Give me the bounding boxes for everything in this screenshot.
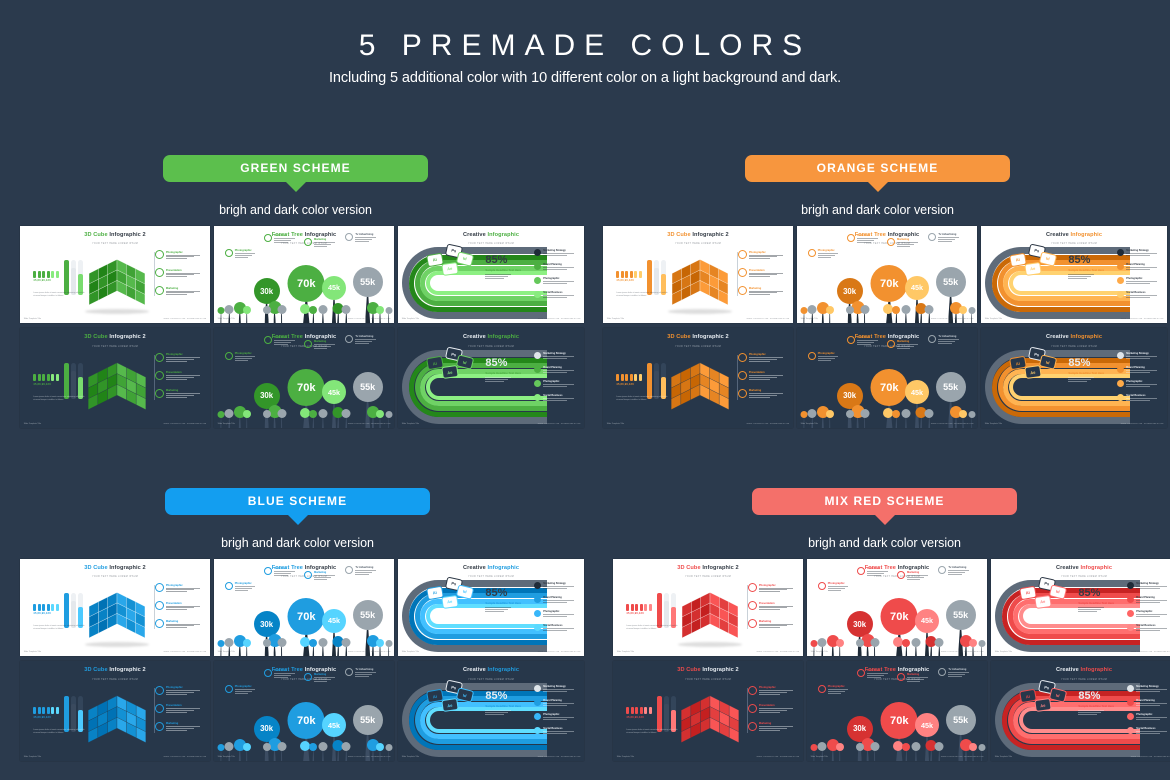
tree-small <box>902 681 910 761</box>
slide-thumbnail-forest[interactable]: Forest Tree InfographicYOUR TEXT HERE LO… <box>797 226 977 323</box>
tag-label: Photographic <box>235 582 257 585</box>
tag-tv-icon <box>928 233 936 241</box>
text-line <box>948 570 969 571</box>
legend-item[interactable]: Marketing Strategy <box>534 249 579 256</box>
text-line <box>828 588 845 589</box>
forest-tag[interactable]: Download <box>857 669 889 678</box>
tag-download-icon <box>847 336 855 344</box>
callout-list: PhotographicPresentationMarketing <box>748 583 797 637</box>
tree-trunk <box>246 312 248 323</box>
text-line <box>166 694 187 695</box>
legend-item[interactable]: Brand Planning <box>534 366 579 373</box>
legend-item[interactable]: Photographic <box>534 713 579 720</box>
scheme-badge-red[interactable]: MIX RED SCHEME <box>752 488 1017 515</box>
bar-fill <box>71 268 76 295</box>
legend-item[interactable]: Brand Planning <box>1127 699 1170 706</box>
legend-item[interactable]: Social Business <box>1127 727 1170 734</box>
tag-clock-icon <box>887 340 895 348</box>
forest-tag[interactable]: Photographic <box>225 352 257 361</box>
callout-item[interactable]: Presentation <box>738 371 787 380</box>
app-card-ae[interactable]: Ae <box>1024 365 1041 379</box>
tag-label: Photographic <box>818 352 840 355</box>
legend-item[interactable]: Social Business <box>534 727 579 734</box>
forest-tag[interactable]: Download <box>847 234 879 243</box>
text-line <box>818 356 839 357</box>
legend-label: Brand Planning <box>543 699 578 702</box>
slide-thumbnail-creative[interactable]: Creative InfographicYOUR TEXT HERE LOREM… <box>398 559 584 656</box>
slide-thumbnail-forest[interactable]: Forest Tree InfographicYOUR TEXT HERE LO… <box>807 661 987 761</box>
legend-item[interactable]: Photographic <box>1117 380 1162 387</box>
legend-label: Social Business <box>543 291 578 294</box>
slide-title: Creative Infographic <box>991 565 1170 571</box>
text-line <box>485 712 507 713</box>
bar-track <box>64 363 69 399</box>
forest-tag[interactable]: Marketing <box>304 673 336 682</box>
tree-crown <box>846 306 854 314</box>
slide-thumbnail-forest[interactable]: Forest Tree InfographicYOUR TEXT HERE LO… <box>214 328 394 428</box>
tree-crown <box>902 743 910 751</box>
callout-item[interactable]: Presentation <box>155 601 204 610</box>
tag-label: Tv Advertising <box>938 233 960 236</box>
tree-small <box>277 681 286 761</box>
forest-tag[interactable]: Tv Advertising <box>345 566 377 575</box>
legend-bullet <box>1117 249 1124 256</box>
app-card-ae[interactable]: Ae <box>441 262 458 276</box>
tag-label: Download <box>274 669 296 672</box>
stat-label: 45,60,90,120 <box>616 279 643 282</box>
callout-label: Presentation <box>166 269 204 272</box>
slide-thumbnail-creative[interactable]: Creative InfographicYOUR TEXT HERE LOREM… <box>398 226 584 323</box>
stat-dot <box>56 374 59 381</box>
app-card-id[interactable]: Id <box>1049 584 1067 599</box>
legend-item[interactable]: Photographic <box>1127 610 1170 617</box>
forest-tag[interactable]: Marketing <box>897 571 929 580</box>
tree-crown <box>385 744 392 751</box>
legend-item[interactable]: Social Business <box>1117 291 1162 298</box>
forest-tag[interactable]: Tv Advertising <box>345 335 377 344</box>
slide-footer-right: WWW.YOURSITE.COM . SLIDEMODELS.COM <box>164 423 207 425</box>
slide-footer-right: WWW.YOURSITE.COM . SLIDEMODELS.COM <box>164 756 207 758</box>
legend-item[interactable]: Brand Planning <box>534 699 579 706</box>
app-card-id[interactable]: Id <box>456 584 474 599</box>
legend-label: Social Business <box>543 727 578 730</box>
tag-label: Tv Advertising <box>948 668 970 671</box>
callout-item[interactable]: Presentation <box>155 704 204 713</box>
app-card-ae[interactable]: Ae <box>441 595 458 609</box>
legend-item[interactable]: Marketing Strategy <box>1117 352 1162 359</box>
forest-tag[interactable]: Tv Advertising <box>928 335 960 344</box>
text-line <box>759 607 787 608</box>
tree-crown <box>911 742 920 751</box>
text-line <box>1126 269 1150 270</box>
legend-item[interactable]: Brand Planning <box>1117 366 1162 373</box>
forest-tag[interactable]: Tv Advertising <box>938 668 970 677</box>
text-line <box>274 677 287 678</box>
forest-tag[interactable]: Download <box>264 669 296 678</box>
text-line <box>749 258 770 259</box>
slide-title: 3D Cube Infographic 2 <box>20 232 210 238</box>
tree-crown <box>385 640 392 647</box>
bar-fill <box>64 260 69 295</box>
stat-dot <box>33 604 36 611</box>
slide-thumbnail-forest[interactable]: Forest Tree InfographicYOUR TEXT HERE LO… <box>797 328 977 428</box>
legend-bullet <box>534 582 541 589</box>
app-card-id[interactable]: Id <box>456 251 474 266</box>
text-line <box>749 274 777 275</box>
tree-small <box>856 578 864 656</box>
callout-label: Marketing <box>749 389 787 392</box>
app-card-ae[interactable]: Ae <box>441 698 458 712</box>
callout-item[interactable]: Marketing <box>155 389 204 398</box>
legend-label: Social Business <box>1126 394 1161 397</box>
stat-dots-group: 45,60,90,120 <box>33 604 60 616</box>
tree-small <box>309 348 317 428</box>
tree-small <box>925 348 934 428</box>
slide-footer-left: Slide Template Title <box>402 423 419 425</box>
app-card-id[interactable]: Id <box>456 687 474 703</box>
stat-dot <box>51 707 54 714</box>
text-line <box>857 342 874 343</box>
tree-crown <box>318 305 327 314</box>
slide-thumbnail-forest[interactable]: Forest Tree InfographicYOUR TEXT HERE LO… <box>214 226 394 323</box>
connector-line <box>715 355 738 400</box>
legend-item[interactable]: Brand Planning <box>1127 596 1170 603</box>
legend-bullet <box>534 610 541 617</box>
callout-item[interactable]: Marketing <box>748 722 797 731</box>
slide-thumbnail-cube[interactable]: 3D Cube Infographic 2YOUR TEXT HERE LORE… <box>603 328 793 428</box>
callout-item[interactable]: Presentation <box>155 371 204 380</box>
text-line <box>938 237 959 238</box>
tree-small <box>978 578 985 656</box>
legend-item[interactable]: Marketing Strategy <box>534 582 579 589</box>
legend-label: Brand Planning <box>1136 699 1170 702</box>
text-line <box>759 589 787 590</box>
forest-tag[interactable]: Download <box>264 567 296 576</box>
slide-title-part2: Infographic <box>487 565 519 571</box>
legend-item[interactable]: Brand Planning <box>534 596 579 603</box>
slide-footer-left: Slide Template Title <box>617 651 634 653</box>
text-line <box>543 356 574 357</box>
forest-tag[interactable]: Tv Advertising <box>928 233 960 242</box>
forest-tag[interactable]: Photographic <box>225 582 257 591</box>
forest-tag[interactable]: Tv Advertising <box>938 566 970 575</box>
text-line <box>314 348 327 349</box>
text-line <box>818 360 831 361</box>
legend-label: Brand Planning <box>1136 596 1170 599</box>
slide-thumbnail-cube[interactable]: 3D Cube Infographic 2YOUR TEXT HERE LORE… <box>20 226 210 323</box>
legend-item[interactable]: Social Business <box>534 624 579 631</box>
stat-dot <box>42 374 45 381</box>
percent-block: 85%Sample Headline Text Here <box>1068 358 1104 382</box>
tree-trunk <box>281 417 283 428</box>
slide-title-part1: 3D Cube <box>677 565 702 571</box>
stat-label: 45,60,90,120 <box>616 383 643 386</box>
tree-small <box>385 681 392 761</box>
callout-item[interactable]: Photographic <box>155 686 204 695</box>
forest-tag[interactable]: Download <box>264 336 296 345</box>
legend-item[interactable]: Photographic <box>1117 277 1162 284</box>
tree-crown <box>860 305 869 314</box>
text-line <box>235 588 252 589</box>
legend-item[interactable]: Brand Planning <box>1117 263 1162 270</box>
text-line <box>1136 586 1167 587</box>
legend-item[interactable]: Marketing Strategy <box>1127 685 1170 692</box>
slide-thumbnail-creative[interactable]: Creative InfographicYOUR TEXT HERE LOREM… <box>398 661 584 761</box>
app-card-ae[interactable]: Ae <box>441 365 458 379</box>
tree-crown <box>836 743 844 751</box>
tag-label: Download <box>867 669 889 672</box>
tree-crown <box>243 410 251 418</box>
slide-thumbnail-creative[interactable]: Creative InfographicYOUR TEXT HERE LOREM… <box>991 559 1170 656</box>
callout-item[interactable]: Presentation <box>155 268 204 277</box>
forest-tag[interactable]: Download <box>847 336 879 345</box>
stat-dot <box>38 374 41 381</box>
legend-item[interactable]: Brand Planning <box>534 263 579 270</box>
forest-tag[interactable]: Download <box>857 567 889 576</box>
slide-thumbnail-cube[interactable]: 3D Cube Infographic 2YOUR TEXT HERE LORE… <box>613 661 803 761</box>
tree-crown <box>801 307 808 314</box>
forest-tag[interactable]: Download <box>264 234 296 243</box>
callout-item[interactable]: Marketing <box>748 619 797 628</box>
percent-value: 85% <box>485 255 521 266</box>
bar-fill <box>64 363 69 399</box>
callout-chart-icon <box>738 286 747 295</box>
slide-footer-left: Slide Template Title <box>811 756 828 758</box>
forest-tag[interactable]: Tv Advertising <box>345 668 377 677</box>
bar-fill <box>64 593 69 628</box>
text-line <box>355 241 368 242</box>
callout-item[interactable]: Photographic <box>155 583 204 592</box>
slide-title-part2: Infographic <box>487 334 519 340</box>
callout-camera-icon <box>155 353 164 362</box>
callout-item[interactable]: Marketing <box>738 286 787 295</box>
slide-thumbnail-forest[interactable]: Forest Tree InfographicYOUR TEXT HERE LO… <box>214 559 394 656</box>
text-line <box>749 395 777 396</box>
slide-footer-left: Slide Template Title <box>801 423 818 425</box>
slide-title: 3D Cube Infographic 2 <box>20 565 210 571</box>
text-line <box>543 384 574 385</box>
tree-small <box>218 245 225 323</box>
stat-dot <box>616 271 619 278</box>
app-card-ae[interactable]: Ae <box>1034 698 1051 712</box>
stat-dot <box>42 604 45 611</box>
callout-item[interactable]: Photographic <box>155 353 204 362</box>
forest-tag[interactable]: Photographic <box>818 685 850 694</box>
stat-dot <box>621 271 624 278</box>
callout-item[interactable]: Marketing <box>155 722 204 731</box>
callout-camera-icon <box>155 583 164 592</box>
tree-trunk <box>832 645 834 656</box>
forest-tag[interactable]: Photographic <box>808 352 840 361</box>
stat-dot <box>38 271 41 278</box>
tag-label: Tv Advertising <box>938 335 960 338</box>
tree-small <box>385 348 392 428</box>
cube-shadow <box>85 309 150 314</box>
tag-label: Download <box>274 567 296 570</box>
badge-tail <box>867 181 889 192</box>
callout-camera-icon <box>748 583 757 592</box>
callout-item[interactable]: Photographic <box>738 353 787 362</box>
stat-dots-group: 45,60,90,120 <box>616 374 643 386</box>
forest-tag[interactable]: Photographic <box>225 249 257 258</box>
legend-item[interactable]: Marketing Strategy <box>1127 582 1170 589</box>
app-card-id[interactable]: Id <box>456 354 474 370</box>
scheme-badge-green[interactable]: GREEN SCHEME <box>163 155 428 182</box>
bar-track <box>664 593 669 628</box>
callout-item[interactable]: Marketing <box>155 286 204 295</box>
stat-dot <box>634 374 637 381</box>
text-line <box>1126 295 1157 296</box>
forest-tag[interactable]: Tv Advertising <box>345 233 377 242</box>
callout-label: Presentation <box>166 602 204 605</box>
text-line <box>543 283 567 284</box>
tree-small <box>856 681 864 761</box>
stat-dots-group: 45,60,90,120 <box>33 707 60 719</box>
slide-thumbnail-forest[interactable]: Forest Tree InfographicYOUR TEXT HERE LO… <box>214 661 394 761</box>
scheme-subtitle: brigh and dark color version <box>745 203 1010 217</box>
callout-item[interactable]: Presentation <box>738 268 787 277</box>
tree-crown <box>243 639 251 647</box>
callout-monitor-icon <box>748 601 757 610</box>
tree-trunk <box>859 750 861 761</box>
slide-thumbnail-cube[interactable]: 3D Cube Infographic 2YOUR TEXT HERE LORE… <box>20 328 210 428</box>
text-line <box>166 690 201 691</box>
slide-thumbnail-creative[interactable]: Creative InfographicYOUR TEXT HERE LOREM… <box>398 328 584 428</box>
app-card-id[interactable]: Id <box>1039 354 1057 370</box>
text-line <box>235 257 248 258</box>
slide-footer-right: WWW.YOURSITE.COM . SLIDEMODELS.COM <box>747 318 790 320</box>
legend-item[interactable]: Photographic <box>1127 713 1170 720</box>
text-line <box>166 606 201 607</box>
callout-item[interactable]: Marketing <box>155 619 204 628</box>
tree-crown <box>925 305 934 314</box>
text-line <box>1068 377 1094 378</box>
legend-bullet <box>1127 727 1134 734</box>
text-line <box>759 728 787 729</box>
callout-item[interactable]: Presentation <box>748 704 797 713</box>
legend-item[interactable]: Photographic <box>534 380 579 387</box>
legend-item[interactable]: Social Business <box>1117 394 1162 401</box>
legend-label: Brand Planning <box>1126 366 1161 369</box>
percent-value: 85% <box>1068 358 1104 369</box>
tag-camera-icon <box>818 685 826 693</box>
forest-tag[interactable]: Marketing <box>304 571 336 580</box>
stat-dot <box>640 604 643 611</box>
app-card-ae[interactable]: Ae <box>1034 595 1051 609</box>
text-line <box>897 242 918 243</box>
legend-item[interactable]: Social Business <box>1127 624 1170 631</box>
tree-trunk <box>281 312 283 323</box>
callout-item[interactable]: Marketing <box>738 389 787 398</box>
legend-bullet <box>1117 291 1124 298</box>
callout-item[interactable]: Presentation <box>748 601 797 610</box>
legend-item[interactable]: Social Business <box>534 291 579 298</box>
app-card-id[interactable]: Id <box>1049 687 1067 703</box>
text-line <box>355 237 376 238</box>
slide-title-part2: Infographic 2 <box>702 667 738 673</box>
slide-thumbnail-cube[interactable]: 3D Cube Infographic 2YOUR TEXT HERE LORE… <box>20 661 210 761</box>
legend-item[interactable]: Social Business <box>534 394 579 401</box>
text-line <box>907 577 924 578</box>
text-line <box>857 344 870 345</box>
slide-thumbnail-forest[interactable]: Forest Tree InfographicYOUR TEXT HERE LO… <box>807 559 987 656</box>
stat-dot <box>639 271 642 278</box>
legend-item[interactable]: Photographic <box>534 610 579 617</box>
forest-tag[interactable]: Marketing <box>887 340 919 349</box>
slide-thumbnail-creative[interactable]: Creative InfographicYOUR TEXT HERE LOREM… <box>991 661 1170 761</box>
callout-item[interactable]: Photographic <box>748 686 797 695</box>
forest-tag[interactable]: Photographic <box>225 685 257 694</box>
scheme-badge-blue[interactable]: BLUE SCHEME <box>165 488 430 515</box>
legend-bullet <box>1117 366 1124 373</box>
callout-item[interactable]: Photographic <box>748 583 797 592</box>
legend-item[interactable]: Marketing Strategy <box>534 352 579 359</box>
text-line <box>749 375 784 376</box>
callout-item[interactable]: Photographic <box>738 250 787 259</box>
text-line <box>355 676 368 677</box>
legend-item[interactable]: Marketing Strategy <box>534 685 579 692</box>
tree-trunk <box>304 645 306 656</box>
tree-small <box>342 681 351 761</box>
stat-dot <box>47 707 50 714</box>
text-line <box>1068 276 1090 277</box>
text-line <box>314 346 331 347</box>
stat-label: 45,60,90,120 <box>626 716 653 719</box>
tree-crown <box>318 409 327 418</box>
tree-small <box>968 245 975 323</box>
text-line <box>274 242 287 243</box>
tree-small <box>892 245 900 323</box>
slide-thumbnail-cube[interactable]: 3D Cube Infographic 2YOUR TEXT HERE LORE… <box>20 559 210 656</box>
app-card-id[interactable]: Id <box>1039 251 1057 266</box>
stat-dot <box>33 271 36 278</box>
scheme-badge-orange[interactable]: ORANGE SCHEME <box>745 155 1010 182</box>
slide-thumbnail-cube[interactable]: 3D Cube Infographic 2YOUR TEXT HERE LORE… <box>603 226 793 323</box>
forest-tag[interactable]: Photographic <box>818 582 850 591</box>
app-card-ae[interactable]: Ae <box>1024 262 1041 276</box>
slide-thumbnail-cube[interactable]: 3D Cube Infographic 2YOUR TEXT HERE LORE… <box>613 559 803 656</box>
callout-item[interactable]: Photographic <box>155 250 204 259</box>
tree-trunk <box>905 312 907 323</box>
callout-list: PhotographicPresentationMarketing <box>738 250 787 304</box>
tree-trunk <box>874 750 876 761</box>
forest-tag[interactable]: Marketing <box>887 238 919 247</box>
app-cards: PsAiIdAe <box>1019 681 1075 717</box>
forest-tag[interactable]: Photographic <box>808 249 840 258</box>
forest-tag[interactable]: Marketing <box>304 238 336 247</box>
legend-item[interactable]: Marketing Strategy <box>1117 249 1162 256</box>
tag-download-icon <box>264 336 272 344</box>
legend-item[interactable]: Photographic <box>534 277 579 284</box>
text-line <box>1078 611 1097 612</box>
slide-title-part1: Creative <box>463 667 488 673</box>
forest-tag[interactable]: Marketing <box>897 673 929 682</box>
slide-thumbnail-creative[interactable]: Creative InfographicYOUR TEXT HERE LOREM… <box>981 328 1167 428</box>
text-line <box>543 600 574 601</box>
stat-dot <box>51 271 54 278</box>
text-line <box>166 710 194 711</box>
forest-tag[interactable]: Marketing <box>304 340 336 349</box>
tree-small <box>318 245 327 323</box>
text-line <box>485 714 504 715</box>
tree-small <box>309 578 317 656</box>
callout-label: Presentation <box>749 371 787 374</box>
bar-track <box>71 593 76 628</box>
text-line <box>938 341 955 342</box>
slide-thumbnail-creative[interactable]: Creative InfographicYOUR TEXT HERE LOREM… <box>981 226 1167 323</box>
tree-small <box>935 681 944 761</box>
tree-trunk <box>337 750 339 761</box>
